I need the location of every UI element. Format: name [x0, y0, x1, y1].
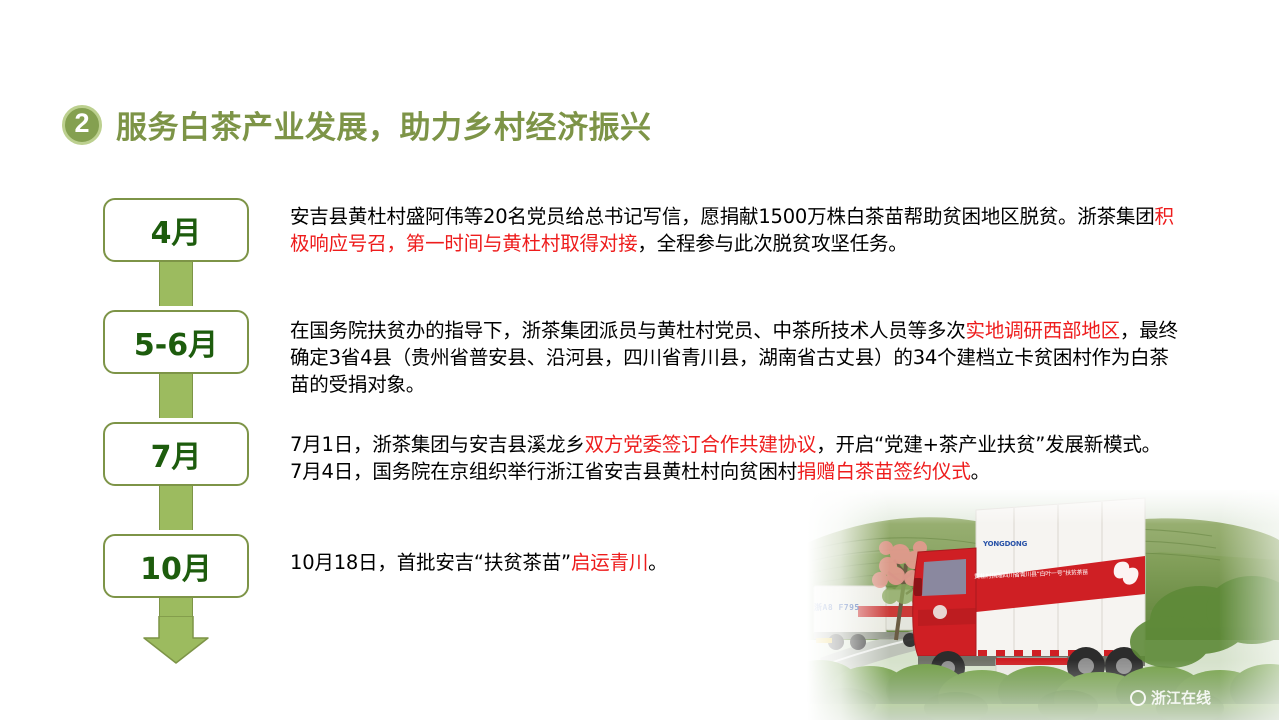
- timeline-item-april[interactable]: 4月: [103, 198, 249, 262]
- timeline-connector-1: [159, 260, 193, 306]
- timeline-item-may-june[interactable]: 5-6月: [103, 310, 249, 374]
- timeline-description-july: 7月1日，浙茶集团与安吉县溪龙乡双方党委签订合作共建协议，开启“党建+茶产业扶贫…: [290, 431, 1170, 485]
- timeline-connector-3: [159, 482, 193, 530]
- timeline-item-october[interactable]: 10月: [103, 534, 249, 598]
- timeline-description-april: 安吉县黄杜村盛阿伟等20名党员给总书记写信，愿捐献1500万株白茶苗帮助贫困地区…: [290, 203, 1186, 257]
- down-arrow-icon: [143, 616, 209, 664]
- timeline: 4月 5-6月 7月 10月: [103, 198, 249, 658]
- page-title: 2 服务白茶产业发展，助力乡村经济振兴: [62, 102, 652, 147]
- body-text: 安吉县黄杜村盛阿伟等20名党员给总书记写信，愿捐献1500万株白茶苗帮助贫困地区…: [290, 205, 1155, 228]
- body-text: 7月1日，浙茶集团与安吉县溪龙乡: [290, 433, 585, 456]
- timeline-description-may-june: 在国务院扶贫办的指导下，浙茶集团派员与黄杜村党员、中茶所技术人员等多次实地调研西…: [290, 317, 1188, 398]
- body-text: 。: [971, 460, 990, 483]
- photo-truck-delivering-tea-seedlings: YONGDONG 黄杜村捐赠四川省青川县“白叶一号”扶贫茶苗 浙A8 F795 …: [800, 490, 1279, 720]
- slide-title-text: 服务白茶产业发展，助力乡村经济振兴: [116, 102, 652, 147]
- highlighted-text: 启运青川: [571, 551, 648, 574]
- highlighted-text: 实地调研西部地区: [966, 319, 1120, 342]
- timeline-connector-2: [159, 370, 193, 418]
- timeline-description-october: 10月18日，首批安吉“扶贫茶苗”启运青川。: [290, 549, 850, 576]
- highlighted-text: 捐赠白茶苗签约仪式: [797, 460, 971, 483]
- photo-illustration: [800, 490, 1279, 720]
- body-text: ，全程参与此次脱贫攻坚任务。: [637, 232, 907, 255]
- highlighted-text: 双方党委签订合作共建协议: [585, 433, 817, 456]
- body-text: 。: [648, 551, 667, 574]
- timeline-item-july[interactable]: 7月: [103, 422, 249, 486]
- body-text: 10月18日，首批安吉“扶贫茶苗”: [290, 551, 571, 574]
- section-number-badge: 2: [62, 105, 102, 145]
- body-text: 在国务院扶贫办的指导下，浙茶集团派员与黄杜村党员、中茶所技术人员等多次: [290, 319, 966, 342]
